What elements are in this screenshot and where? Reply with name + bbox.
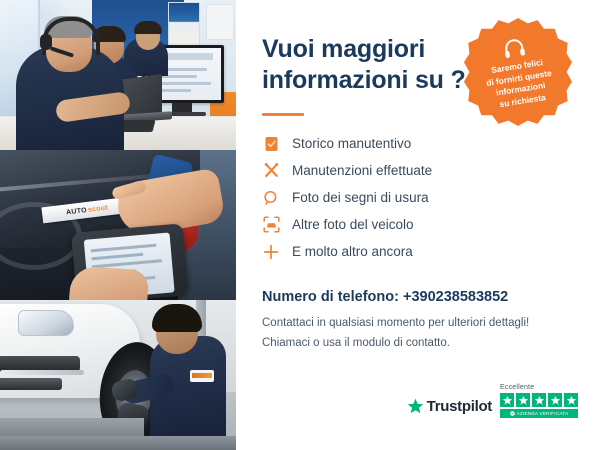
trustpilot-star-icon (407, 398, 424, 415)
feature-label: E molto altro ancora (292, 244, 413, 259)
feature-item-storico: Storico manutentivo (262, 130, 576, 157)
wall-poster (168, 2, 200, 50)
verified-business-badge: AZIENDA VERIFICATA (500, 409, 578, 418)
promo-card: AUTOscout (0, 0, 600, 450)
trustpilot-widget[interactable]: Trustpilot Eccellente (407, 384, 578, 418)
tablet-row (91, 253, 143, 261)
page-title-line-1: Vuoi maggiori (262, 35, 425, 63)
uniform-logo-badge (190, 370, 214, 382)
wall-poster-secondary (206, 4, 234, 40)
feature-list: Storico manutentivo Manutenzioni effettu… (262, 130, 576, 265)
phone-number[interactable]: Numero di telefono: +390238583852 (262, 289, 576, 305)
feature-item-altre-foto: Altre foto del veicolo (262, 211, 576, 238)
worker-hair-3 (134, 21, 162, 34)
contact-detail-line-2: Chiamaci o usa il modulo di contatto. (262, 334, 576, 353)
rating-star (500, 393, 514, 407)
content-panel: Vuoi maggiori informazioni su ? Storico … (236, 0, 600, 450)
trustpilot-wordmark: Trustpilot (427, 398, 492, 415)
rating-star (564, 393, 578, 407)
vehicle-lift-base (0, 436, 236, 450)
page-title: Vuoi maggiori informazioni su ? (262, 34, 477, 95)
tire-service-photo (0, 300, 236, 450)
crossed-tools-icon (262, 162, 280, 180)
trustpilot-rating: Eccellente (500, 384, 578, 418)
star-rating (500, 393, 578, 407)
callout-badge: Saremo felici di fornirti queste informa… (464, 18, 572, 126)
tablet-row (91, 244, 157, 253)
car-headlight (18, 310, 74, 336)
rating-star (532, 393, 546, 407)
contact-detail-line-1: Contattaci in qualsiasi momento per ulte… (262, 314, 576, 333)
trustpilot-logo: Trustpilot (407, 398, 492, 418)
feature-label: Storico manutentivo (292, 136, 411, 151)
feature-label: Altre foto del veicolo (292, 217, 414, 232)
page-title-line-2: informazioni su ? (262, 66, 466, 94)
feature-label: Manutenzioni effettuate (292, 163, 432, 178)
car-grille-lower (0, 378, 62, 390)
badge-content: Saremo felici di fornirti queste informa… (456, 10, 580, 134)
label-brand-secondary: scout (87, 204, 108, 213)
rating-star (548, 393, 562, 407)
clipboard-check-icon (262, 135, 280, 153)
magnifier-icon (262, 189, 280, 207)
feature-item-molto-altro: E molto altro ancora (262, 238, 576, 265)
rating-label: Eccellente (500, 384, 534, 391)
mechanic-hair (152, 304, 202, 332)
feature-item-manutenzioni: Manutenzioni effettuate (262, 157, 576, 184)
feature-item-foto-usura: Foto dei segni di usura (262, 184, 576, 211)
verified-label: AZIENDA VERIFICATA (517, 411, 569, 416)
headset-icon (502, 37, 527, 60)
call-center-photo (0, 0, 236, 150)
rating-star (516, 393, 530, 407)
car-inspection-photo: AUTOscout (0, 150, 236, 300)
badge-text: Saremo felici di fornirti queste informa… (474, 54, 566, 113)
label-brand-primary: AUTO (66, 207, 88, 216)
car-scan-icon (262, 216, 280, 234)
technician-hand-lower (69, 265, 150, 300)
plus-icon (262, 243, 280, 261)
photo-column: AUTOscout (0, 0, 236, 450)
title-underline (262, 113, 304, 116)
car-chrome-trim (0, 370, 84, 375)
feature-label: Foto dei segni di usura (292, 190, 429, 205)
check-circle-icon (510, 411, 515, 416)
